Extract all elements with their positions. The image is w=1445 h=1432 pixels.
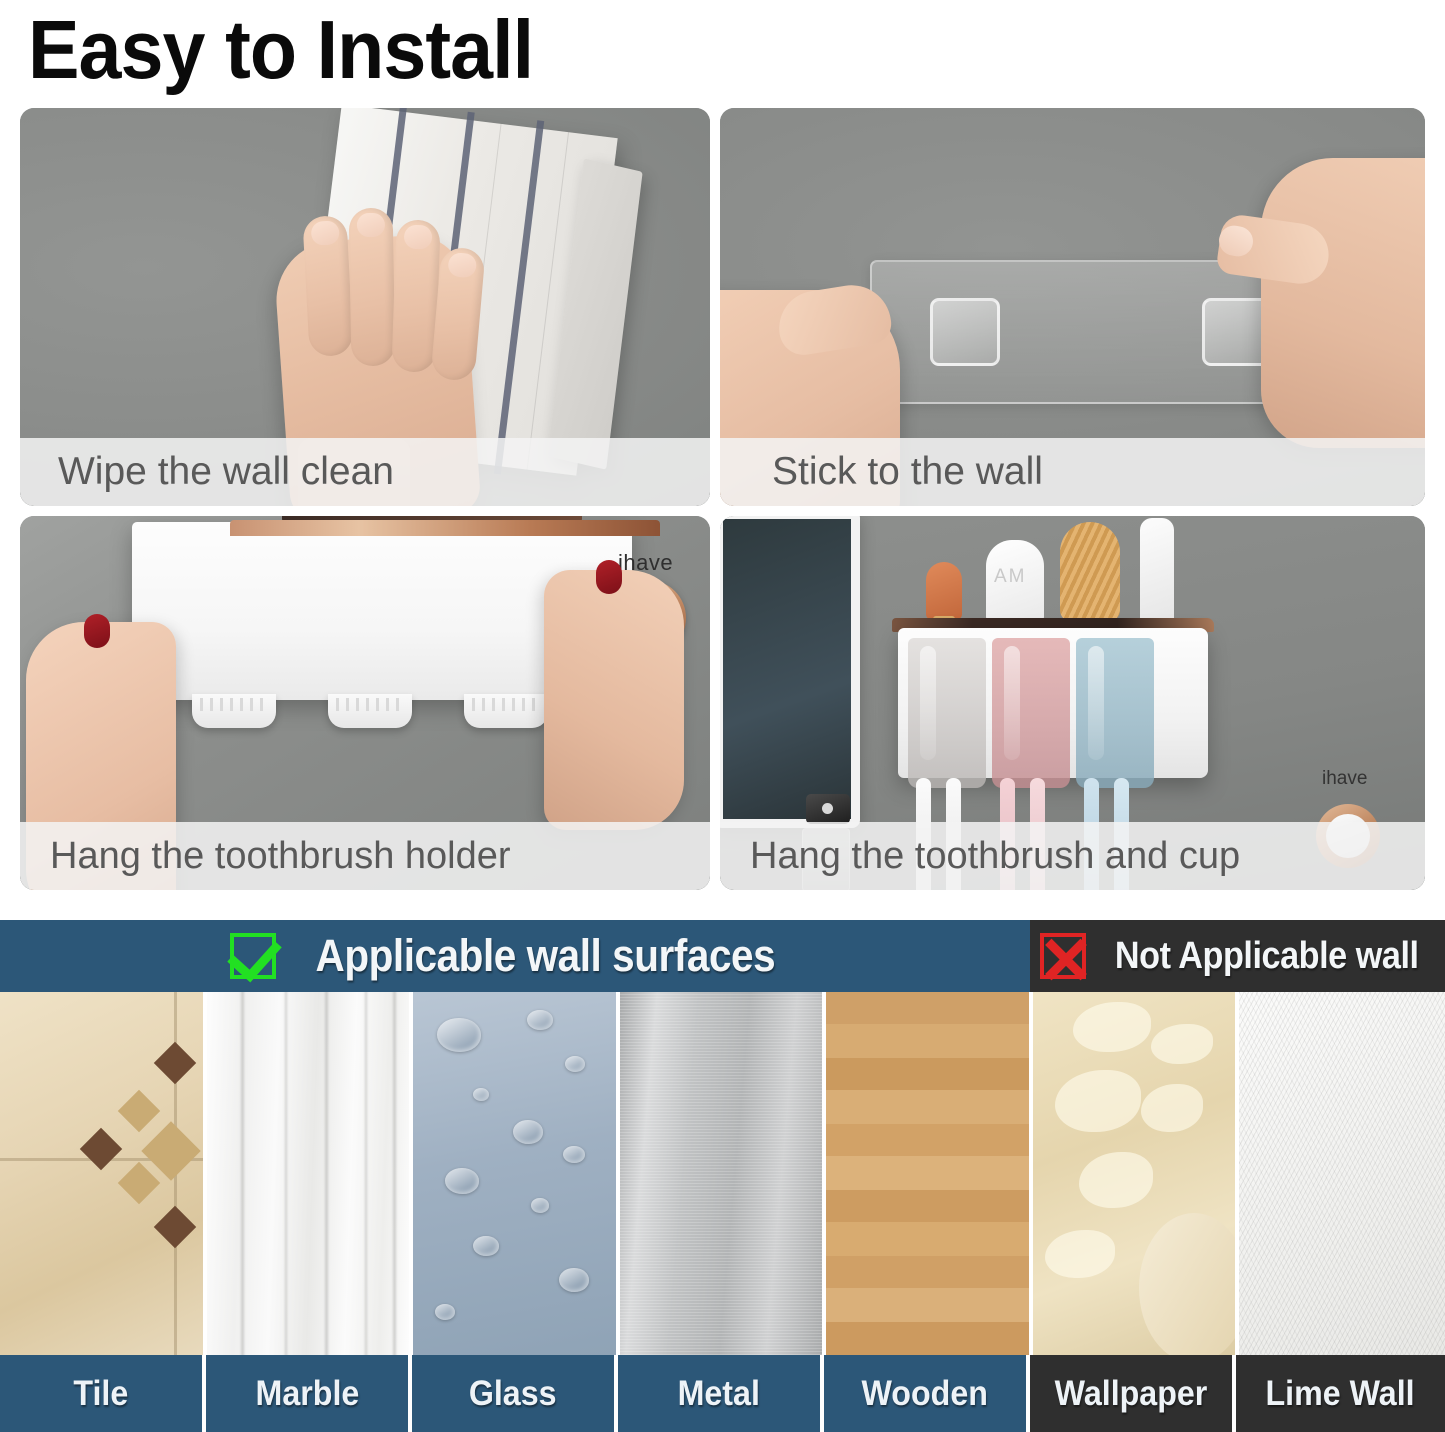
step-panel-stick: Stick to the wall	[720, 108, 1425, 506]
surface-swatch-strip	[0, 992, 1445, 1355]
cross-box-icon	[1040, 933, 1086, 979]
step-caption-stick: Stick to the wall	[720, 438, 1425, 506]
swatch-glass	[413, 992, 620, 1355]
wall-hook	[806, 794, 850, 824]
cup-gray	[908, 638, 986, 788]
swatch-metal	[620, 992, 827, 1355]
applicable-banner-label: Applicable wall surfaces	[315, 930, 775, 982]
step-panel-wipe: Wipe the wall clean	[20, 108, 710, 506]
surface-label-tile: Tile	[0, 1355, 206, 1432]
surface-label-metal: Metal	[618, 1355, 824, 1432]
page-title: Easy to Install	[28, 0, 533, 100]
not-applicable-banner: Not Applicable wall	[1030, 920, 1445, 992]
cup-pink	[992, 638, 1070, 788]
swatch-wallpaper	[1033, 992, 1240, 1355]
cream-tube: AM	[986, 540, 1044, 622]
check-box-icon	[230, 933, 276, 979]
wallpaper-roll-edge	[1139, 1213, 1239, 1355]
finger	[302, 215, 353, 357]
step-caption-hang-holder: Hang the toothbrush holder	[20, 822, 710, 890]
surface-label-marble: Marble	[206, 1355, 412, 1432]
surface-label-lime-wall: Lime Wall	[1236, 1355, 1445, 1432]
finger	[349, 208, 396, 367]
makeup-brush-head	[926, 562, 962, 620]
swatch-tile	[0, 992, 207, 1355]
not-applicable-banner-label: Not Applicable wall	[1115, 935, 1419, 978]
surface-banner: Applicable wall surfaces Not Applicable …	[0, 920, 1445, 992]
cup-blue	[1076, 638, 1154, 788]
hand-right	[544, 570, 684, 830]
surface-label-glass: Glass	[412, 1355, 618, 1432]
step-panel-hang-brush: AM ihave Hang the toothbrush and cup	[720, 516, 1425, 890]
swatch-lime-wall	[1239, 992, 1445, 1355]
step-caption-hang-brush: Hang the toothbrush and cup	[720, 822, 1425, 890]
mount-square	[930, 298, 1000, 366]
install-steps-grid: Wipe the wall clean Stick to the wall ih…	[20, 108, 1425, 890]
step-panel-hang-holder: ihave Hang th	[20, 516, 710, 890]
bathroom-mirror	[720, 516, 860, 828]
brand-logo: ihave	[1322, 768, 1367, 790]
tube-label: AM	[994, 566, 1027, 588]
surface-label-wooden: Wooden	[824, 1355, 1030, 1432]
infographic-page: Easy to Install Wipe the wall clean	[0, 0, 1445, 1432]
wooden-hair-brush	[1060, 522, 1120, 622]
swatch-marble	[207, 992, 414, 1355]
brush-slot	[192, 694, 276, 728]
brush-slot	[328, 694, 412, 728]
brush-slot-group	[192, 694, 552, 730]
hand-right	[1261, 158, 1425, 448]
step-caption-wipe: Wipe the wall clean	[20, 438, 710, 506]
brush-slot	[464, 694, 548, 728]
toothpaste-tube	[1140, 518, 1174, 622]
swatch-wooden	[826, 992, 1033, 1355]
holder-rose-gold-trim	[230, 520, 660, 536]
surface-label-wallpaper: Wallpaper	[1030, 1355, 1236, 1432]
applicable-banner: Applicable wall surfaces	[0, 920, 1030, 992]
surface-label-strip: Tile Marble Glass Metal Wooden Wallpaper…	[0, 1355, 1445, 1432]
